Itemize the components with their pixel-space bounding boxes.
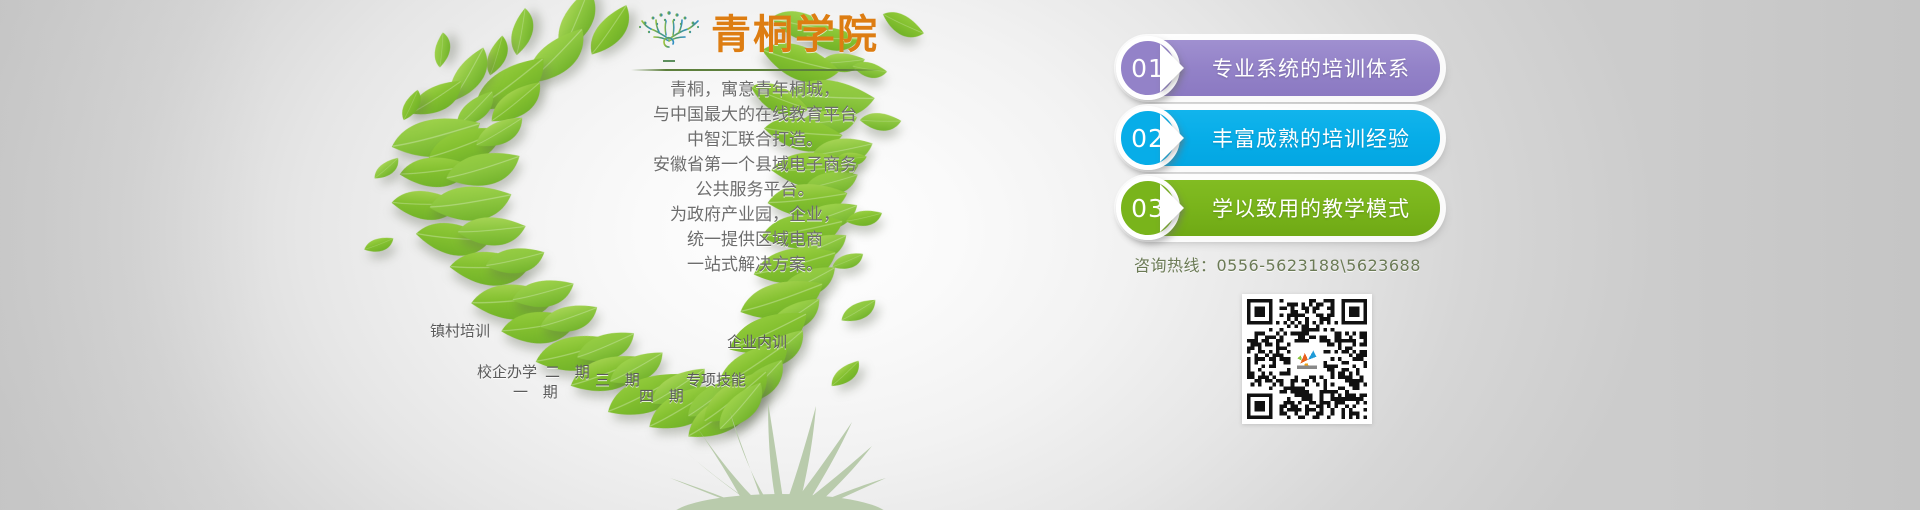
description-line: 一站式解决方案。: [540, 253, 970, 278]
grass-decoration: [600, 390, 960, 510]
brand-name: 青桐学院: [711, 15, 879, 55]
description-line: 中智汇联合打造。: [540, 128, 970, 153]
feature-badge-01[interactable]: 01专业系统的培训体系: [1120, 40, 1440, 96]
feature-badge-03[interactable]: 03学以致用的教学模式: [1120, 180, 1440, 236]
chevron-right-icon: [1160, 184, 1184, 232]
stage-label-zhen-cun-pei-xun: 镇村培训: [430, 320, 490, 341]
leaf-icon: [839, 298, 879, 326]
tree-logo-icon: [633, 7, 705, 63]
description-line: 公共服务平台。: [540, 178, 970, 203]
qr-code-image: [1247, 299, 1367, 419]
brand-logo: 青桐学院: [586, 6, 926, 71]
badge-label: 丰富成熟的培训经验: [1212, 123, 1410, 153]
badge-label: 学以致用的教学模式: [1212, 193, 1410, 223]
badge-label: 专业系统的培训体系: [1212, 53, 1410, 83]
description-line: 与中国最大的在线教育平台: [540, 103, 970, 128]
stage-label-phase-3: 三 期: [595, 369, 645, 390]
brand-description: 青桐，寓意青年桐城，与中国最大的在线教育平台中智汇联合打造。安徽省第一个县域电子…: [540, 78, 970, 278]
hotline-text: 咨询热线：0556-5623188\5623688: [1134, 252, 1520, 276]
description-line: 青桐，寓意青年桐城，: [540, 78, 970, 103]
feature-badge-02[interactable]: 02丰富成熟的培训经验: [1120, 110, 1440, 166]
stage-label-phase-4: 四 期: [639, 385, 689, 406]
stage-label-zhuan-xiang-ji-neng: 专项技能: [686, 369, 746, 390]
description-line: 统一提供区域电商: [540, 228, 970, 253]
logo-divider: [631, 69, 881, 71]
features-panel: 01专业系统的培训体系02丰富成熟的培训经验03学以致用的教学模式 咨询热线：0…: [1120, 40, 1520, 424]
stage-label-xiao-qi-ban-xue: 校企办学: [477, 361, 537, 382]
description-line: 为政府产业园，企业，: [540, 203, 970, 228]
wechat-qr-code[interactable]: [1242, 294, 1372, 424]
feature-badge-list: 01专业系统的培训体系02丰富成熟的培训经验03学以致用的教学模式: [1120, 40, 1520, 236]
chevron-right-icon: [1160, 44, 1184, 92]
leaf-icon: [825, 359, 866, 391]
promo-banner: 青桐学院 青桐，寓意青年桐城，与中国最大的在线教育平台中智汇联合打造。安徽省第一…: [0, 0, 1920, 510]
chevron-right-icon: [1160, 114, 1184, 162]
leaf-icon: [363, 235, 394, 256]
stage-label-phase-1: 一 期: [513, 381, 563, 402]
stage-label-qi-ye-nei-xun: 企业内训: [727, 331, 787, 352]
description-line: 安徽省第一个县域电子商务: [540, 153, 970, 178]
stage-label-phase-2: 二 期: [545, 361, 595, 382]
